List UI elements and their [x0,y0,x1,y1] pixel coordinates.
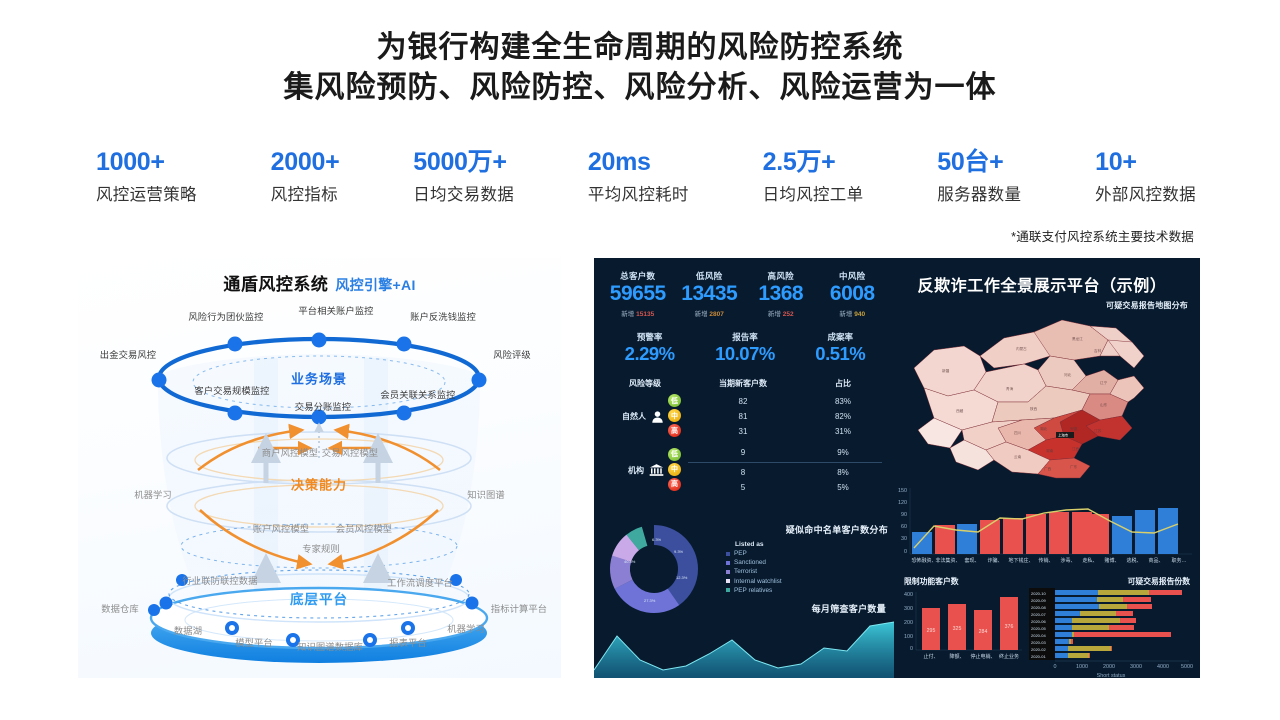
combo-cat: 走私、 [1082,557,1097,564]
stat-value: 20ms [588,148,689,177]
svg-text:150: 150 [898,488,907,494]
x-tick: 0 [1054,664,1057,670]
str-ylabel: 2020-05 [1031,626,1046,631]
badge-high: 高 [668,424,681,437]
kpi-row: 总客户数 59655 新增 15135 低风险 13435 新增 2807 [602,270,888,318]
y-tick: 0 [910,646,913,652]
cell-count: 5 [688,483,798,492]
diagram-label-top: 风险行为团伙监控 [188,309,263,323]
kpi-delta-value: 252 [783,311,794,318]
svg-text:0: 0 [904,549,907,555]
str-ylabel: 2020-09 [1031,598,1046,603]
area-chart-graphic [594,618,894,678]
svg-text:广西: 广西 [1044,466,1052,471]
diagram-label-middle: 知识图谱 [467,487,505,501]
kpi-card: 低风险 13435 新增 2807 [674,270,746,318]
kpi-delta: 新增 252 [745,308,817,318]
y-tick: 200 [904,620,913,626]
str-footer: Short status [1097,673,1126,678]
page-title: 为银行构建全生命周期的风险防控系统 集风险预防、风险防控、风险分析、风险运营为一… [0,28,1280,108]
kpi-delta-label: 新增 [621,311,634,318]
risk-badge-column: 低 中 高 [668,394,688,439]
svg-text:湖南: 湖南 [1046,448,1054,453]
svg-text:黑龙江: 黑龙江 [1072,336,1083,341]
rate-card: 成案率 0.51% [793,331,888,365]
entity-cell: 机构 [602,463,668,477]
x-tick: 3000 [1130,664,1142,670]
kpi-delta-value: 15135 [636,311,654,318]
layer-name-business: 业务场景 [291,369,347,388]
row-divider [688,462,882,463]
rate-value: 2.29% [602,343,697,365]
cell-pct: 31% [798,427,888,436]
diagram-label-bottom: 行业联防联控数据 [182,573,257,587]
rate-card: 报告率 10.07% [697,331,792,365]
kpi-name: 中风险 [817,270,889,282]
kpi-delta-value: 940 [854,311,865,318]
diagram-label-middle: 交易风控模型 [322,445,378,459]
stat-label: 日均风控工单 [763,181,864,205]
svg-text:湖北: 湖北 [1040,426,1048,431]
value-column: 82 83% 81 82% 31 31% [688,394,888,439]
title-line-2: 集风险预防、风险防控、风险分析、风险运营为一体 [0,68,1280,108]
entity-label: 机构 [628,465,644,476]
legend-title: Listed as [735,541,782,548]
svg-text:山东: 山东 [1100,402,1108,407]
diagram-label-top: 风险评级 [493,347,531,361]
svg-text:青海: 青海 [1006,386,1014,391]
stat-item: 5000万+ 日均交易数据 [413,148,514,205]
donut-chart: 40.3% 27.3% 12.3% 9.3% 6.3% [602,523,712,615]
svg-text:西藏: 西藏 [956,408,964,413]
diagram-label-bottom: 数据湖 [174,623,202,637]
bottom-charts-section: 限制功能客户数 可疑交易报告份数 400 300 200 100 0 [894,576,1194,678]
diagram-label-top: 出金交易风控 [100,347,156,361]
diagram-label-bottom: 机器学习 [447,621,485,635]
bar-value: 325 [953,626,962,632]
diagram-label-bottom: 知识图谱数据库 [297,639,363,653]
diagram-label-top: 客户交易规模监控 [194,383,269,397]
svg-text:新疆: 新疆 [942,368,950,373]
slide-root: 为银行构建全生命周期的风险防控系统 集风险预防、风险防控、风险分析、风险运营为一… [0,0,1280,720]
stat-value: 50台+ [937,148,1021,177]
cell-count: 81 [688,412,798,421]
legend-item: PEP relatives [726,587,782,594]
svg-text:120: 120 [898,500,907,506]
kpi-delta: 新增 15135 [602,308,674,318]
architecture-diagram-panel: 通盾风控系统风控引擎+AI [78,258,561,678]
combo-cat: 商品、 [1148,557,1163,564]
donut-caption: 疑似命中名单客户数分布 [786,523,888,536]
diagram-label-bottom: 工作流调度平台 [387,575,453,589]
svg-text:30: 30 [901,536,907,542]
kpi-delta-label: 新增 [768,311,781,318]
restrict-bar-chart: 400 300 200 100 0 295 325 284 376 [894,588,1024,678]
rate-name: 报告率 [697,331,792,343]
combo-cat: 恐怖融资、 [911,557,936,564]
stat-item: 20ms 平均风控耗时 [588,148,689,205]
legend-item: Internal watchlist [726,578,782,585]
combo-cat: 诈骗、 [987,557,1002,564]
combo-cat: 套现、 [964,557,979,564]
kpi-card: 中风险 6008 新增 940 [817,270,889,318]
badge-mid: 中 [668,463,681,476]
kpi-delta: 新增 2807 [674,308,746,318]
svg-text:陕西: 陕西 [1030,406,1038,411]
bar-cat: 停止电销、 [970,653,995,660]
y-tick: 300 [904,606,913,612]
risk-type-combo-chart: 恐怖融资、 非法集资、 套现、 诈骗、 地下钱庄、 传销、 涉毒、 走私、 赌博… [894,480,1194,578]
layer-name-decision: 决策能力 [291,475,347,494]
bar-value: 284 [979,629,988,635]
svg-text:27.3%: 27.3% [644,598,656,603]
kpi-delta: 新增 940 [817,308,889,318]
svg-text:12.3%: 12.3% [676,575,688,580]
cell-pct: 9% [798,448,888,457]
bar-value: 295 [927,628,936,634]
legend-item: Sanctioned [726,559,782,566]
restrict-chart-caption: 限制功能客户数 [904,576,959,587]
svg-text:四川: 四川 [1014,431,1022,435]
x-tick: 2000 [1103,664,1115,670]
table-row: 9 9% [688,445,888,460]
kpi-value: 6008 [817,282,889,306]
legend-label: Terrorist [734,568,757,575]
diagram-label-middle: 专家规则 [302,541,340,555]
rate-value: 10.07% [697,343,792,365]
cell-pct: 8% [798,468,888,477]
table-group: 机构 低 中 高 9 [602,445,888,495]
diagram-label-top: 平台相关账户监控 [298,303,373,317]
bank-icon [649,463,664,477]
legend-item: Terrorist [726,568,782,575]
table-group: 自然人 低 中 高 82 83% [602,394,888,439]
kpi-value: 59655 [602,282,674,306]
rate-card: 预警率 2.29% [602,331,697,365]
diagram-label-top: 会员关联关系监控 [380,387,455,401]
map-caption: 可疑交易报告地图分布 [1106,300,1188,311]
risk-level-table: 风险等级 当期新客户数 占比 自然人 低 中 高 [602,378,888,495]
diagram-label-bottom: 数据仓库 [101,601,139,615]
value-column: 9 9% 8 8% 5 5% [688,445,888,495]
rate-name: 成案率 [793,331,888,343]
svg-text:江苏: 江苏 [1094,428,1102,433]
svg-text:河北: 河北 [1064,372,1072,377]
stat-item: 50台+ 服务器数量 [937,148,1021,205]
risk-badge-column: 低 中 高 [668,448,688,493]
kpi-name: 高风险 [745,270,817,282]
x-tick: 1000 [1076,664,1088,670]
x-tick: 4000 [1157,664,1169,670]
svg-text:辽宁: 辽宁 [1100,380,1108,385]
footnote: *通联支付风控系统主要技术数据 [1011,226,1194,245]
stat-label: 风控指标 [271,181,340,205]
legend-label: Sanctioned [734,559,766,566]
badge-mid: 中 [668,409,681,422]
svg-text:上海市: 上海市 [1058,433,1069,438]
svg-text:40.3%: 40.3% [624,559,636,564]
stat-label: 日均交易数据 [413,181,514,205]
donut-legend: Listed as PEP Sanctioned Terrorist Inter… [726,541,782,596]
combo-cat: 地下钱庄、 [1008,557,1033,564]
kpi-name: 低风险 [674,270,746,282]
x-tick: 5000 [1181,664,1193,670]
str-ylabel: 2020-10 [1031,591,1046,596]
diagram-graphics [78,258,561,678]
bar-cat: 终止业务 [999,653,1019,660]
layer-name-platform: 底层平台 [290,588,348,608]
y-tick: 400 [904,592,913,598]
stat-label: 风控运营策略 [96,181,197,205]
rate-value: 0.51% [793,343,888,365]
cell-count: 8 [688,468,798,477]
str-ylabel: 2020-01 [1031,654,1046,659]
stat-label: 平均风控耗时 [588,181,689,205]
badge-high: 高 [668,478,681,491]
combo-cat: 非法集资、 [935,557,960,564]
bar-cat: 降额、 [949,653,964,660]
combo-cat: 赌博、 [1104,557,1119,564]
svg-text:6.3%: 6.3% [652,537,662,542]
stat-value: 2000+ [271,148,340,177]
svg-text:90: 90 [901,512,907,518]
diagram-label-bottom: 模型平台 [235,635,273,649]
stat-item: 10+ 外部风控数据 [1095,148,1196,205]
stat-item: 2.5万+ 日均风控工单 [763,148,864,205]
kpi-block: 总客户数 59655 新增 15135 低风险 13435 新增 2807 [602,270,888,365]
str-ylabel: 2020-06 [1031,619,1046,624]
col-header-risk-level: 风险等级 [602,378,688,389]
str-ylabel: 2020-03 [1031,640,1046,645]
table-row: 5 5% [688,480,888,495]
stats-row: 1000+ 风控运营策略 2000+ 风控指标 5000万+ 日均交易数据 20… [96,148,1196,205]
stat-label: 外部风控数据 [1095,181,1196,205]
legend-item: PEP [726,550,782,557]
kpi-value: 1368 [745,282,817,306]
combo-cat: 传销、 [1038,557,1053,564]
diagram-label-middle: 商户风控模型 [262,445,318,459]
kpi-delta-label: 新增 [695,311,708,318]
badge-low: 低 [668,394,681,407]
str-ylabel: 2020-04 [1031,633,1046,638]
table-row: 81 82% [688,409,888,424]
cell-pct: 82% [798,412,888,421]
table-header-row: 风险等级 当期新客户数 占比 [602,378,888,392]
stat-value: 2.5万+ [763,148,864,177]
str-ylabel: 2020-08 [1031,605,1046,610]
rate-name: 预警率 [602,331,697,343]
svg-text:60: 60 [901,524,907,530]
stat-value: 5000万+ [413,148,514,177]
diagram-label-middle: 机器学习 [134,487,172,501]
stat-item: 1000+ 风控运营策略 [96,148,197,205]
map-graphic: 新疆内蒙古 黑龙江吉林 河北辽宁 青海西藏 陕西山东 江苏安徽 湖北四川 湖南江… [894,298,1194,483]
svg-text:云南: 云南 [1014,454,1022,459]
str-ylabel: 2020-07 [1031,612,1046,617]
cell-count: 82 [688,397,798,406]
dashboard-title: 反欺诈工作全景展示平台（示例） [894,272,1190,296]
col-header-ratio: 占比 [798,378,888,389]
svg-text:内蒙古: 内蒙古 [1016,346,1027,351]
bar-cat: 止付、 [923,653,938,660]
diagram-label-bottom: 指标计算平台 [491,601,547,615]
kpi-delta-label: 新增 [839,311,852,318]
rate-row: 预警率 2.29% 报告率 10.07% 成案率 0.51% [602,331,888,365]
svg-text:江西: 江西 [1072,446,1080,451]
legend-label: Internal watchlist [734,578,782,585]
diagram-label-top: 账户反洗钱监控 [410,309,476,323]
title-line-1: 为银行构建全生命周期的风险防控系统 [0,28,1280,68]
str-stacked-chart: 2020-10 2020-09 2020-08 2020-07 2020-06 … [1029,586,1194,678]
table-row: 31 31% [688,424,888,439]
str-ylabel: 2020-02 [1031,647,1046,652]
stat-value: 1000+ [96,148,197,177]
fraud-dashboard-panel: 反欺诈工作全景展示平台（示例） 总客户数 59655 新增 15135 低风险 … [594,258,1200,678]
entity-cell: 自然人 [602,410,668,424]
person-icon [651,410,664,424]
diagram-label-top: 交易分账监控 [295,399,351,413]
diagram-label-middle: 账户风控模型 [253,521,309,535]
legend-label: PEP [734,550,747,557]
table-row: 82 83% [688,394,888,409]
bar-value: 376 [1005,624,1014,630]
combo-cat: 职务… [1171,557,1186,564]
stat-item: 2000+ 风控指标 [271,148,340,205]
svg-text:安徽: 安徽 [1070,426,1078,431]
stat-label: 服务器数量 [937,181,1021,205]
cell-pct: 5% [798,483,888,492]
combo-cat: 逃税、 [1126,557,1141,564]
kpi-value: 13435 [674,282,746,306]
diagram-label-middle: 会员风控模型 [336,521,392,535]
y-tick: 100 [904,634,913,640]
kpi-name: 总客户数 [602,270,674,282]
svg-text:广东: 广东 [1070,464,1078,469]
combo-cat: 涉毒、 [1060,557,1075,564]
kpi-card: 总客户数 59655 新增 15135 [602,270,674,318]
stat-value: 10+ [1095,148,1196,177]
combo-chart-graphic: 恐怖融资、 非法集资、 套现、 诈骗、 地下钱庄、 传销、 涉毒、 走私、 赌博… [894,480,1194,578]
kpi-card: 高风险 1368 新增 252 [745,270,817,318]
col-header-new-customers: 当期新客户数 [688,378,798,389]
diagram-label-bottom: 报表平台 [389,635,427,649]
badge-low: 低 [668,448,681,461]
cell-pct: 83% [798,397,888,406]
svg-text:吉林: 吉林 [1094,348,1102,353]
china-choropleth-map: 可疑交易报告地图分布 [894,298,1194,483]
svg-text:9.3%: 9.3% [674,549,684,554]
table-row: 8 8% [688,465,888,480]
monthly-screening-area-chart: 每月筛查客户数量 [594,618,894,678]
area-caption: 每月筛查客户数量 [812,602,886,615]
cell-count: 9 [688,448,798,457]
kpi-delta-value: 2807 [709,311,723,318]
cell-count: 31 [688,427,798,436]
legend-label: PEP relatives [734,587,772,594]
entity-label: 自然人 [622,411,646,422]
